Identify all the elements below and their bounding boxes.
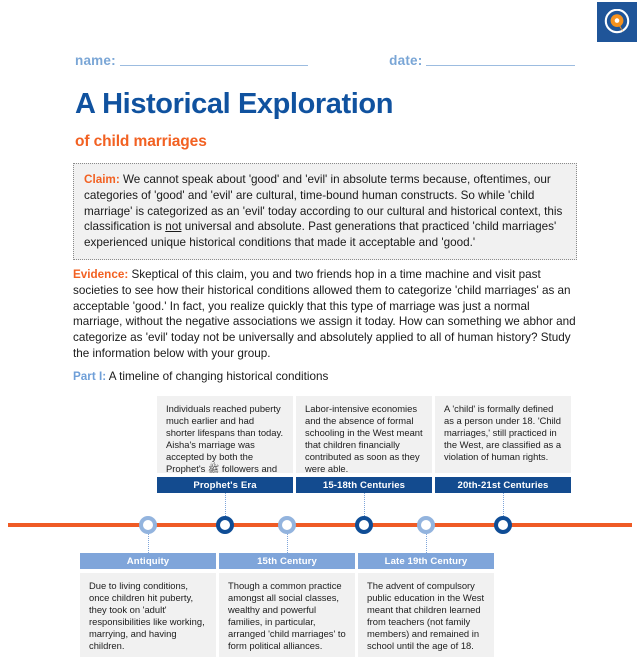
page-subtitle: of child marriages <box>75 133 207 151</box>
page-title: A Historical Exploration <box>75 88 393 121</box>
timeline-lower-label: Late 19th Century <box>358 553 494 569</box>
timeline-upper-label: 15-18th Centuries <box>296 477 432 493</box>
name-date-row: name: date: <box>75 50 575 68</box>
speech-bubble-q-icon <box>604 9 630 35</box>
evidence-text: Skeptical of this claim, you and two fri… <box>73 268 576 360</box>
name-write-line[interactable] <box>120 65 308 66</box>
timeline-lower-card: Though a common practice amongst all soc… <box>219 573 355 657</box>
timeline-marker[interactable] <box>216 516 234 534</box>
timeline-upper-label: 20th-21st Centuries <box>435 477 571 493</box>
timeline: Individuals reached puberty much earlier… <box>0 396 640 640</box>
part-description: A timeline of changing historical condit… <box>106 370 328 383</box>
date-label: date: <box>389 53 422 68</box>
timeline-marker[interactable] <box>494 516 512 534</box>
claim-emphasis: not <box>165 220 181 233</box>
claim-box: Claim: We cannot speak about 'good' and … <box>73 163 577 260</box>
timeline-lower-card: Due to living conditions, once children … <box>80 573 216 657</box>
worksheet-page: name: date: A Historical Exploration of … <box>0 0 640 640</box>
timeline-lower-label: 15th Century <box>219 553 355 569</box>
timeline-lower-label: Antiquity <box>80 553 216 569</box>
claim-label: Claim: <box>84 173 120 186</box>
brand-logo <box>597 2 637 42</box>
timeline-axis-line <box>8 523 632 527</box>
part-one-heading: Part I: A timeline of changing historica… <box>73 370 328 383</box>
timeline-marker[interactable] <box>417 516 435 534</box>
date-write-line[interactable] <box>426 65 575 66</box>
timeline-upper-card: Individuals reached puberty much earlier… <box>157 396 293 473</box>
timeline-marker[interactable] <box>139 516 157 534</box>
timeline-upper-card: A 'child' is formally defined as a perso… <box>435 396 571 473</box>
timeline-marker[interactable] <box>278 516 296 534</box>
evidence-label: Evidence: <box>73 268 128 281</box>
timeline-marker[interactable] <box>355 516 373 534</box>
timeline-lower-card: The advent of compulsory public educatio… <box>358 573 494 657</box>
timeline-upper-card: Labor-intensive economies and the absenc… <box>296 396 432 473</box>
part-label: Part I: <box>73 370 106 383</box>
evidence-paragraph: Evidence: Skeptical of this claim, you a… <box>73 267 579 362</box>
timeline-upper-label: Prophet's Era <box>157 477 293 493</box>
name-label: name: <box>75 53 116 68</box>
